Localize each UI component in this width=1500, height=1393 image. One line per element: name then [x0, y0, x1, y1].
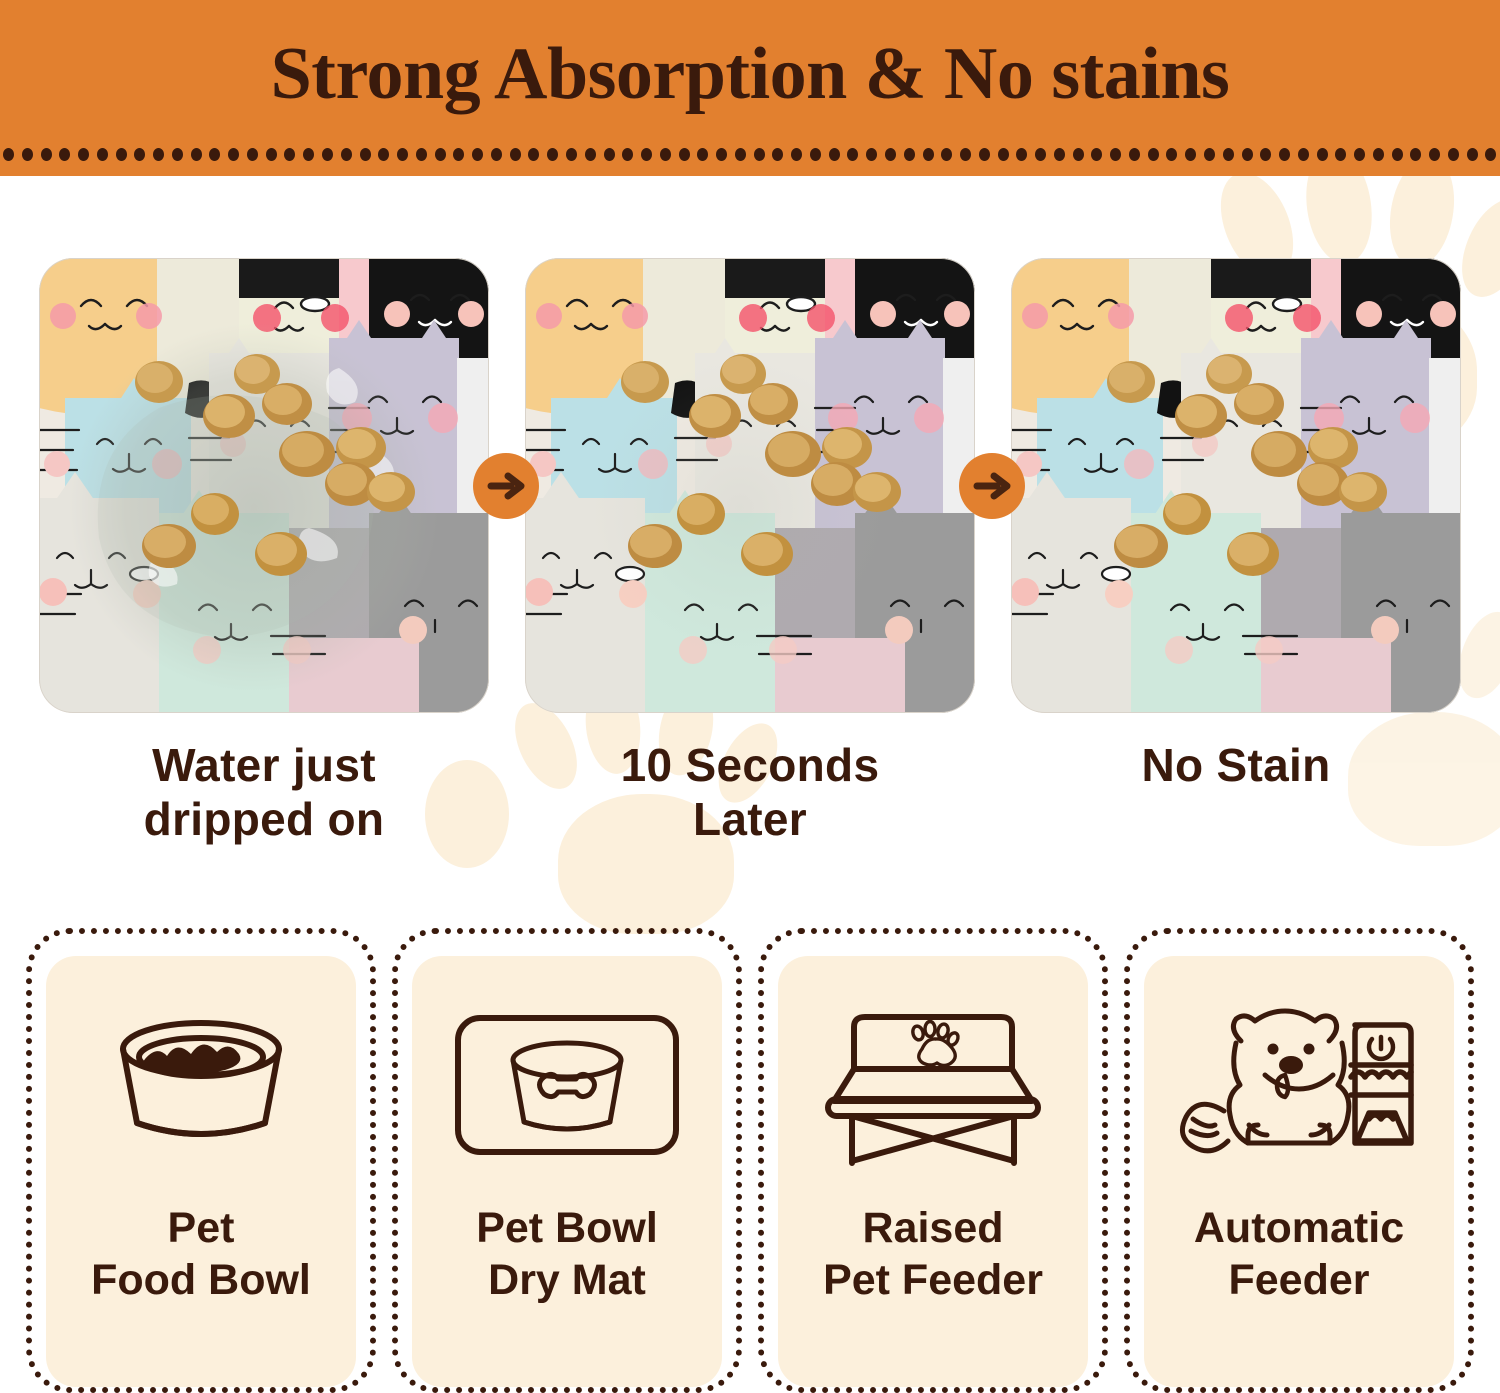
pet-food-bowl-icon [101, 990, 301, 1180]
header-dot-divider [0, 148, 1500, 162]
card-1-line-2: Food Bowl [91, 1254, 311, 1306]
card-label-raised-pet-feeder: Raised Pet Feeder [823, 1202, 1043, 1307]
caption-step-3-line-1: No Stain [1011, 738, 1461, 792]
card-4-line-1: Automatic [1194, 1202, 1404, 1254]
card-label-pet-food-bowl: Pet Food Bowl [91, 1202, 311, 1307]
page-title: Strong Absorption & No stains [271, 32, 1230, 117]
demo-step-3 [1011, 258, 1461, 713]
automatic-feeder-icon [1179, 990, 1419, 1180]
pet-bowl-dry-mat-icon [452, 990, 682, 1180]
use-case-card-raised-pet-feeder[interactable]: Raised Pet Feeder [758, 928, 1108, 1393]
caption-step-2-line-2: Later [525, 792, 975, 846]
mat-photo-drying [525, 258, 975, 713]
caption-step-2-line-1: 10 Seconds [525, 738, 975, 792]
absorption-demo-row [0, 258, 1500, 738]
arrow-right-icon-2[interactable] [959, 453, 1025, 519]
caption-step-2: 10 Seconds Later [525, 738, 975, 873]
card-label-pet-bowl-dry-mat: Pet Bowl Dry Mat [476, 1202, 658, 1307]
caption-step-1: Water just dripped on [39, 738, 489, 873]
raised-pet-feeder-icon [818, 990, 1048, 1180]
demo-captions-row: Water just dripped on 10 Seconds Later N… [0, 738, 1500, 873]
caption-step-3: No Stain [1011, 738, 1461, 873]
use-case-card-pet-food-bowl[interactable]: Pet Food Bowl [26, 928, 376, 1393]
demo-step-2 [525, 258, 975, 713]
card-2-line-1: Pet Bowl [476, 1202, 658, 1254]
arrow-right-icon-1[interactable] [473, 453, 539, 519]
card-1-line-1: Pet [91, 1202, 311, 1254]
use-case-card-pet-bowl-dry-mat[interactable]: Pet Bowl Dry Mat [392, 928, 742, 1393]
caption-step-1-line-1: Water just [39, 738, 489, 792]
card-label-automatic-feeder: Automatic Feeder [1194, 1202, 1404, 1307]
header-banner: Strong Absorption & No stains [0, 0, 1500, 176]
card-2-line-2: Dry Mat [476, 1254, 658, 1306]
demo-step-1 [39, 258, 489, 713]
card-4-line-2: Feeder [1194, 1254, 1404, 1306]
card-3-line-1: Raised [823, 1202, 1043, 1254]
card-3-line-2: Pet Feeder [823, 1254, 1043, 1306]
mat-photo-dry [1011, 258, 1461, 713]
caption-step-1-line-2: dripped on [39, 792, 489, 846]
use-case-card-automatic-feeder[interactable]: Automatic Feeder [1124, 928, 1474, 1393]
use-case-cards-row: Pet Food Bowl Pet Bowl Dr [0, 928, 1500, 1393]
mat-photo-wet [39, 258, 489, 713]
